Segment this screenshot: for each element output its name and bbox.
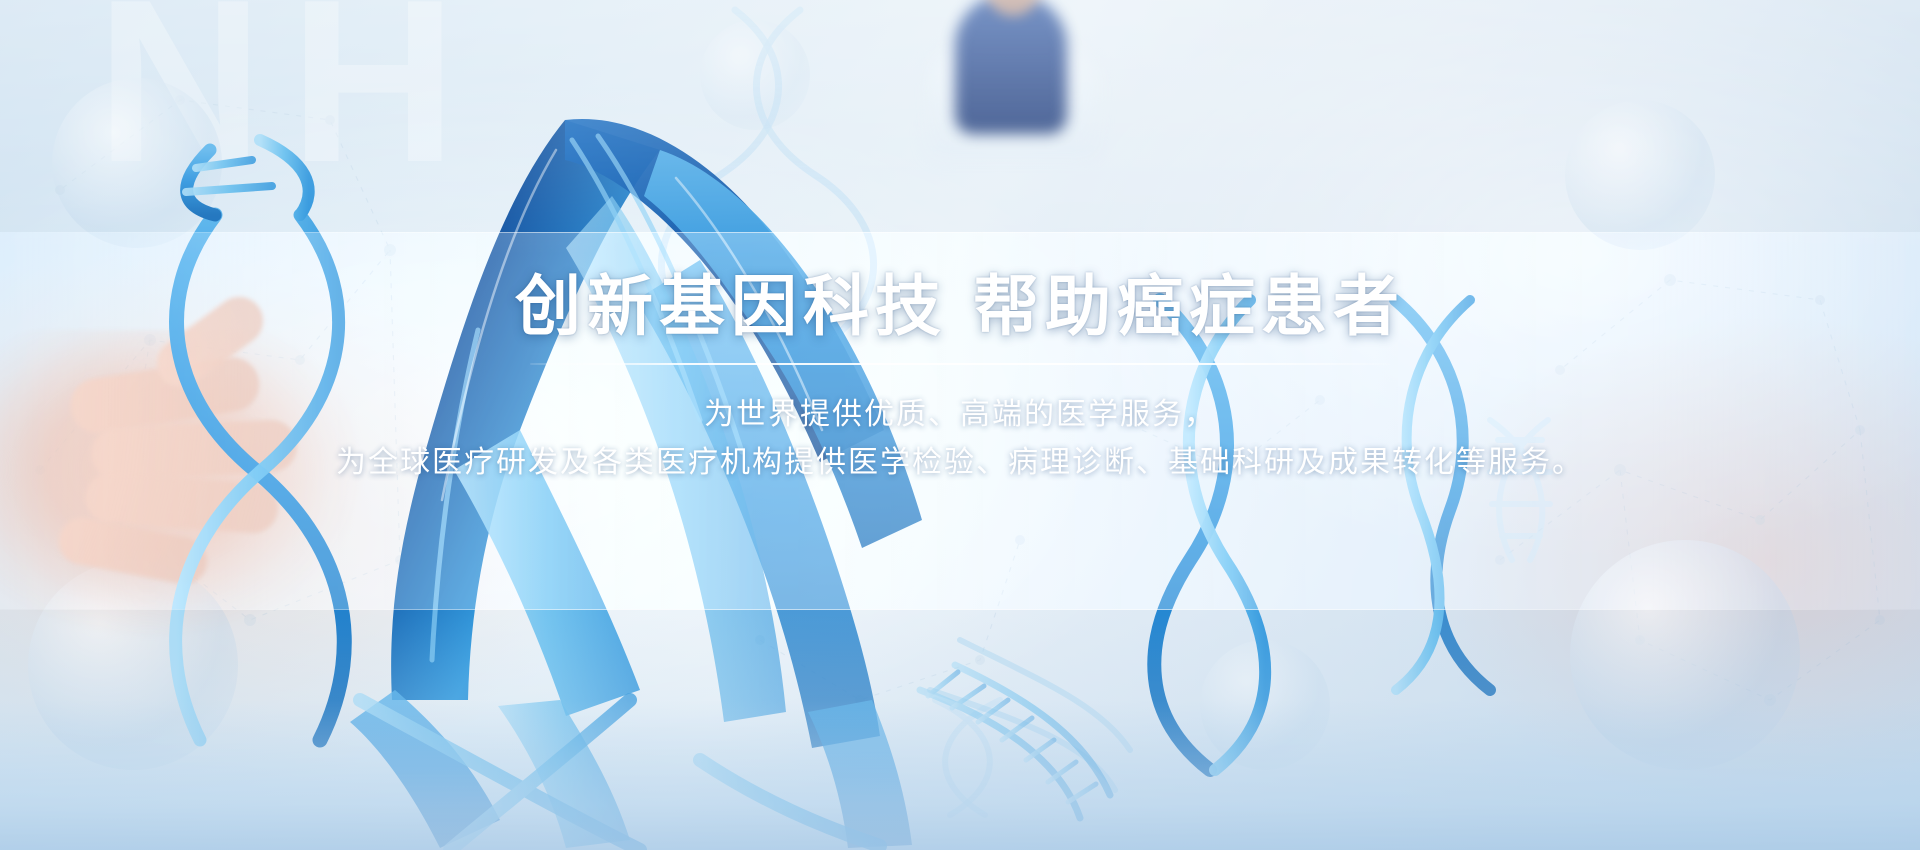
hero-subtitle: 为世界提供优质、高端的医学服务， 为全球医疗研发及各类医疗机构提供医学检验、病理… xyxy=(336,391,1584,488)
page-title: 创新基因科技帮助癌症患者 xyxy=(515,270,1405,343)
hero-content: 创新基因科技帮助癌症患者 为世界提供优质、高端的医学服务， 为全球医疗研发及各类… xyxy=(0,232,1920,610)
headline-part-1: 创新基因科技 xyxy=(515,269,947,343)
hero-banner: NH xyxy=(0,0,1920,850)
title-divider xyxy=(530,363,1390,365)
subtitle-line-2: 为全球医疗研发及各类医疗机构提供医学检验、病理诊断、基础科研及成果转化等服务。 xyxy=(336,439,1584,488)
headline-part-2: 帮助癌症患者 xyxy=(973,269,1405,343)
subtitle-line-1: 为世界提供优质、高端的医学服务， xyxy=(704,398,1216,431)
